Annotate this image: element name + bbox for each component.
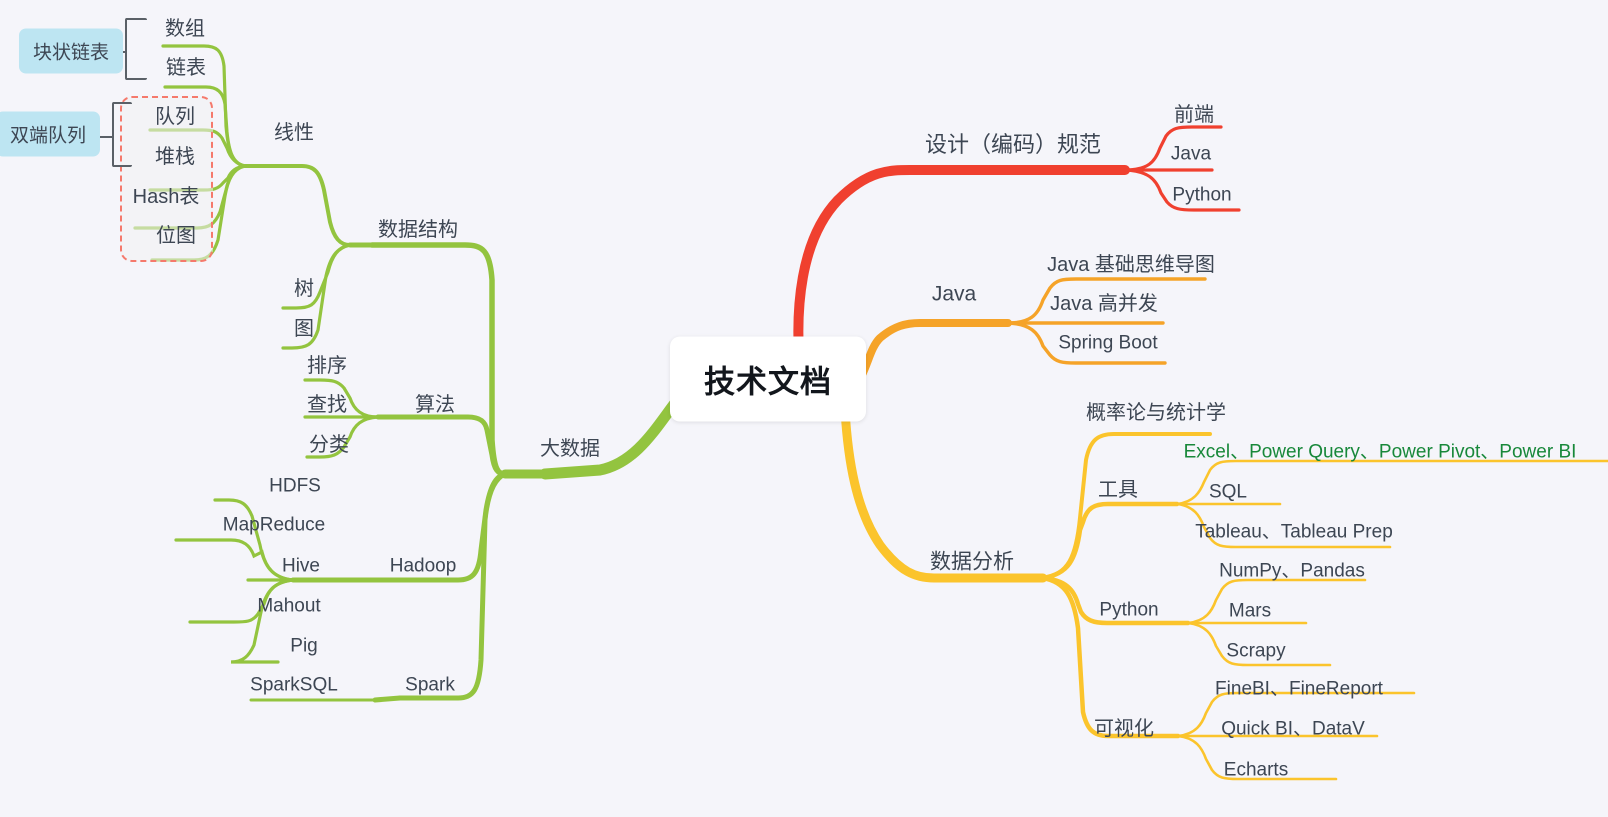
node-sparksql[interactable]: SparkSQL (250, 676, 338, 695)
node-sql[interactable]: SQL (1209, 483, 1247, 502)
node-chazhao[interactable]: 查找 (307, 395, 347, 415)
root-node-technical-docs[interactable]: 技术文档 (670, 337, 866, 422)
node-finebi-finereport[interactable]: FineBI、FineReport (1215, 680, 1383, 699)
node-spec-python[interactable]: Python (1172, 186, 1231, 205)
node-hadoop[interactable]: Hadoop (390, 557, 457, 576)
node-lianbiao[interactable]: 链表 (166, 58, 206, 78)
node-excel-powerquery-powerpivot-powerbi[interactable]: Excel、Power Query、Power Pivot、Power BI (1184, 443, 1577, 462)
node-design-coding-spec[interactable]: 设计（编码）规范 (925, 134, 1101, 156)
pill-kuaizhuang-lianbiao[interactable]: 块状链表 (19, 29, 123, 74)
node-keshihua[interactable]: 可视化 (1094, 719, 1154, 739)
node-hdfs[interactable]: HDFS (269, 477, 321, 496)
node-pig[interactable]: Pig (290, 637, 317, 656)
link-bigdata-spark (400, 474, 505, 698)
node-tu[interactable]: 图 (294, 319, 314, 339)
node-xianxing[interactable]: 线性 (274, 123, 314, 143)
node-suanfa[interactable]: 算法 (415, 395, 455, 415)
link-analysis-tools (1043, 504, 1177, 578)
node-mahout[interactable]: Mahout (257, 597, 320, 616)
node-gailvlun-tongjixue[interactable]: 概率论与统计学 (1086, 403, 1226, 423)
node-numpy-pandas[interactable]: NumPy、Pandas (1219, 562, 1365, 581)
node-mapreduce[interactable]: MapReduce (223, 516, 325, 535)
node-shujujiegou[interactable]: 数据结构 (378, 220, 458, 240)
node-python-tools[interactable]: Python (1099, 601, 1158, 620)
node-paixu[interactable]: 排序 (307, 356, 347, 376)
link-bigdata-algorithm (400, 417, 505, 474)
bracket-kuaizhuang (125, 18, 147, 80)
node-duilie[interactable]: 队列 (155, 107, 195, 127)
node-hive[interactable]: Hive (282, 557, 320, 576)
node-duizhan[interactable]: 堆栈 (155, 147, 195, 167)
node-java-branch[interactable]: Java (932, 284, 976, 305)
node-shu[interactable]: 树 (294, 279, 314, 299)
node-weitu[interactable]: 位图 (156, 226, 196, 246)
link-hadoop-mapreduce (176, 540, 293, 580)
node-scrapy[interactable]: Scrapy (1226, 642, 1285, 661)
node-spec-java[interactable]: Java (1171, 145, 1211, 164)
node-mars[interactable]: Mars (1229, 602, 1271, 621)
link-spark-spine (375, 698, 400, 700)
node-quickbi-datav[interactable]: Quick BI、DataV (1221, 720, 1365, 739)
link-root-java (852, 323, 1008, 390)
pill-shuangduan-duilie[interactable]: 双端队列 (0, 112, 100, 157)
node-qianduan[interactable]: 前端 (1174, 105, 1214, 125)
link-bigdata-datastructure (372, 245, 505, 474)
node-fenlei[interactable]: 分类 (309, 435, 349, 455)
node-spring-boot[interactable]: Spring Boot (1058, 334, 1157, 353)
node-echarts[interactable]: Echarts (1224, 761, 1288, 780)
link-pyt-numpy (1188, 580, 1365, 623)
node-dashuju[interactable]: 大数据 (540, 439, 600, 459)
node-java-gaobingfa[interactable]: Java 高并发 (1050, 294, 1158, 314)
node-hashbiao[interactable]: Hash表 (133, 187, 200, 207)
node-shuzu[interactable]: 数组 (165, 19, 205, 39)
link-datastructure-linear (262, 166, 350, 245)
bracket-shuangduan (112, 102, 132, 167)
mindmap-canvas: 块状链表 双端队列 技术文档 数组 链表 队列 堆栈 Hash表 位图 线性 数… (0, 0, 1608, 817)
link-root-bigdata (545, 393, 683, 474)
node-tableau-prep[interactable]: Tableau、Tableau Prep (1195, 523, 1393, 542)
node-spark[interactable]: Spark (405, 676, 455, 695)
node-java-jichu-siweidaotu[interactable]: Java 基础思维导图 (1047, 255, 1215, 275)
link-hadoop-pig (231, 580, 293, 662)
node-shujufenxi[interactable]: 数据分析 (930, 552, 1014, 573)
node-gongju[interactable]: 工具 (1098, 480, 1138, 500)
